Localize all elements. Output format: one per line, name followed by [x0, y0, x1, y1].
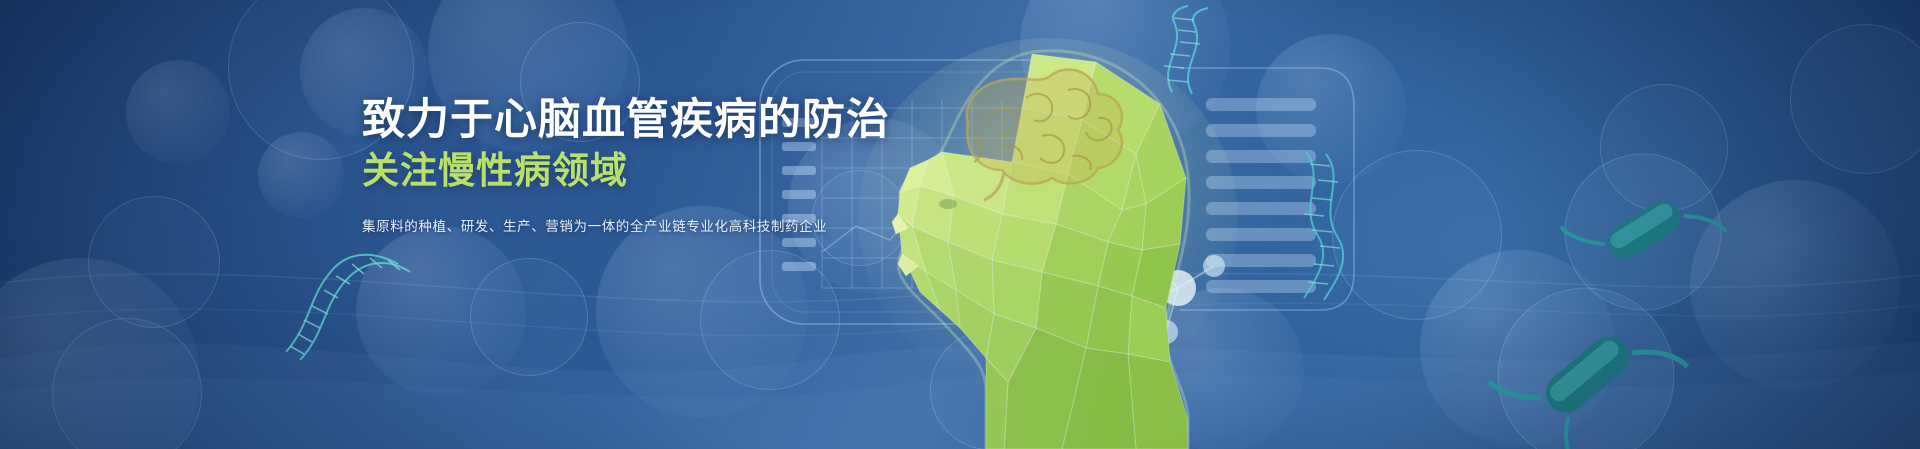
dna-helix-right: [1292, 150, 1370, 300]
dna-helix-top-right: [1152, 4, 1236, 96]
hero-text-block: 致力于心脑血管疾病的防治 关注慢性病领域 集原料的种植、研发、生产、营销为一体的…: [362, 96, 1002, 235]
molecule-cluster: [1092, 214, 1242, 364]
low-poly-head-profile: [836, 28, 1266, 449]
bokeh-circle: [470, 258, 588, 376]
page-subtitle: 关注慢性病领域: [362, 150, 1002, 193]
hud-panel-right: [1140, 62, 1360, 316]
bokeh-circle: [258, 132, 344, 218]
bokeh-circle: [1020, 0, 1230, 150]
bokeh-circle: [1332, 150, 1502, 320]
wave-ribbons: [0, 209, 1920, 449]
bokeh-circle: [126, 60, 230, 164]
bokeh-circle: [356, 226, 526, 396]
bacteria-cell-top: [1548, 152, 1738, 312]
bokeh-circle: [596, 206, 808, 418]
bokeh-circle: [1600, 84, 1728, 212]
bokeh-circle: [1420, 250, 1616, 446]
bokeh-circle: [1690, 180, 1900, 390]
bokeh-circle: [700, 250, 840, 390]
bokeh-circle: [1256, 34, 1406, 184]
page-tagline: 集原料的种植、研发、生产、营销为一体的全产业链专业化高科技制药企业: [362, 215, 1002, 235]
page-title: 致力于心脑血管疾病的防治: [362, 96, 1002, 144]
bacteria-cell-bottom: [1476, 284, 1696, 449]
bokeh-circle: [1790, 24, 1920, 174]
bokeh-circle: [52, 318, 202, 449]
dna-helix-left: [272, 248, 412, 368]
bokeh-circle: [1140, 288, 1304, 449]
bokeh-circle: [0, 258, 200, 449]
bokeh-circle: [88, 196, 220, 328]
bokeh-circle: [930, 330, 1050, 449]
hero-banner: 致力于心脑血管疾病的防治 关注慢性病领域 集原料的种植、研发、生产、营销为一体的…: [0, 0, 1920, 449]
